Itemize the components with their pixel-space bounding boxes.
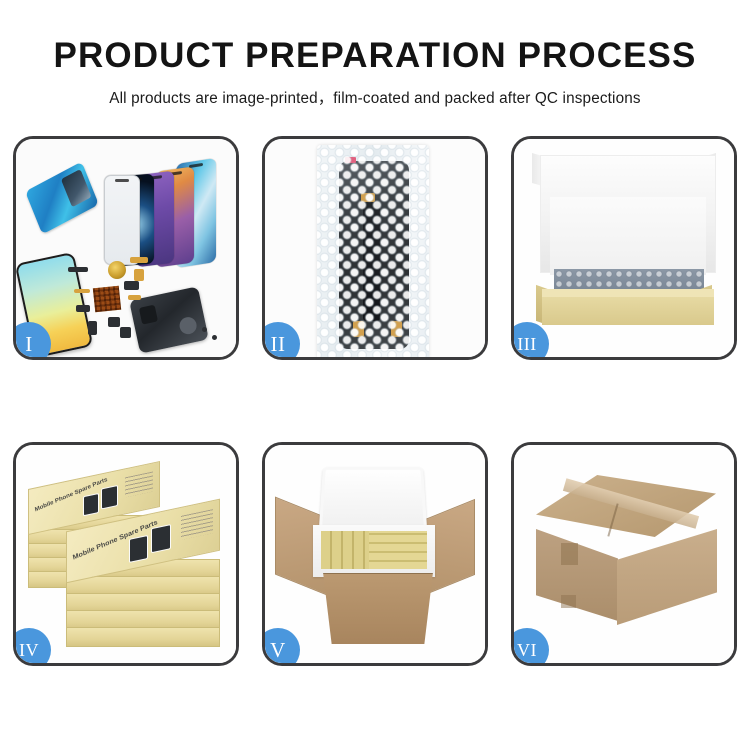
packed-yellow-boxes-row2 — [369, 531, 427, 569]
flex-cable-part — [74, 289, 90, 293]
step-image-6: VI — [514, 445, 734, 663]
flex-cable-part — [134, 269, 144, 281]
screw-part — [202, 327, 207, 332]
step-panel-3: III — [511, 136, 737, 360]
step-image-3: III — [514, 139, 734, 357]
phone-screen-glass — [104, 175, 140, 265]
flex-cable-part — [130, 257, 148, 263]
box-product-thumb — [101, 485, 118, 510]
styrofoam-lid — [319, 467, 427, 529]
box-product-thumb — [151, 524, 171, 553]
copper-grid-part — [93, 286, 121, 313]
box-spec-lines — [181, 509, 213, 540]
spare-part-chip — [88, 321, 97, 335]
screw-part — [212, 335, 217, 340]
spare-part-chip — [108, 317, 120, 327]
carton-front-wall — [317, 573, 439, 644]
yellow-box-base — [542, 297, 714, 325]
step-panel-1: I — [13, 136, 239, 360]
box-product-thumb — [83, 493, 99, 516]
steps-grid: I II — [13, 136, 737, 666]
step-panel-4: Mobile Phone Spare Parts Mobile Phone Sp… — [13, 442, 239, 666]
carton-marking — [561, 543, 578, 565]
step-panel-2: II — [262, 136, 488, 360]
spare-part-chip — [120, 327, 131, 338]
step-image-4: Mobile Phone Spare Parts Mobile Phone Sp… — [16, 445, 236, 663]
foam-liner — [550, 197, 706, 275]
bubble-texture — [317, 145, 429, 357]
phone-screen-fan — [104, 161, 234, 265]
box-stack: Mobile Phone Spare Parts Mobile Phone Sp… — [24, 463, 236, 655]
step-image-2: II — [265, 139, 485, 357]
header: PRODUCT PREPARATION PROCESS All products… — [0, 0, 750, 108]
stacked-box — [66, 627, 220, 647]
bubble-wrap-bag — [317, 145, 429, 357]
notch-icon — [115, 179, 129, 182]
spare-part-chip — [76, 305, 90, 312]
step-panel-6: VI — [511, 442, 737, 666]
page-title: PRODUCT PREPARATION PROCESS — [0, 0, 750, 76]
product-preparation-infographic: PRODUCT PREPARATION PROCESS All products… — [0, 0, 750, 750]
step-image-1: I — [16, 139, 236, 357]
step-image-5: V — [265, 445, 485, 663]
box-product-thumb — [129, 535, 148, 563]
spare-part-chip — [68, 267, 88, 272]
speaker-coil-part — [108, 261, 126, 279]
flex-cable-part — [128, 295, 141, 300]
page-subtitle: All products are image-printed，film-coat… — [0, 76, 750, 108]
carton-marking — [561, 595, 576, 608]
box-spec-lines — [125, 471, 153, 497]
step-panel-5: V — [262, 442, 488, 666]
spare-part-chip — [124, 281, 139, 290]
